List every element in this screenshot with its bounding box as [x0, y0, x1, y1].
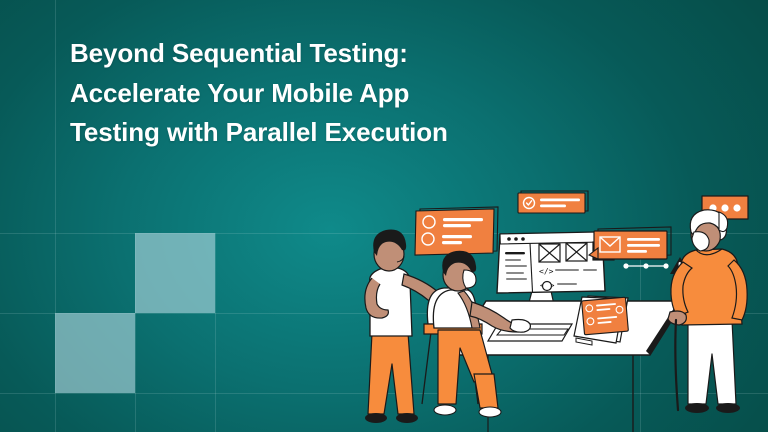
title-line-2: Accelerate Your Mobile App	[70, 74, 550, 114]
checklist-card	[415, 207, 498, 255]
grid-line-vertical	[215, 233, 216, 432]
title-line-3: Testing with Parallel Execution	[70, 113, 550, 153]
title-line-1: Beyond Sequential Testing:	[70, 34, 550, 74]
tablet-card	[574, 296, 628, 345]
approved-card	[518, 191, 588, 213]
hero-illustration: </> </>	[340, 178, 768, 432]
elderly-person	[668, 210, 747, 413]
svg-text:</>: </>	[539, 267, 554, 276]
decor-square	[135, 233, 215, 313]
decor-square	[55, 313, 135, 393]
banner-hero: Beyond Sequential Testing: Accelerate Yo…	[0, 0, 768, 432]
page-title: Beyond Sequential Testing: Accelerate Yo…	[70, 34, 550, 153]
progress-track	[623, 263, 668, 268]
